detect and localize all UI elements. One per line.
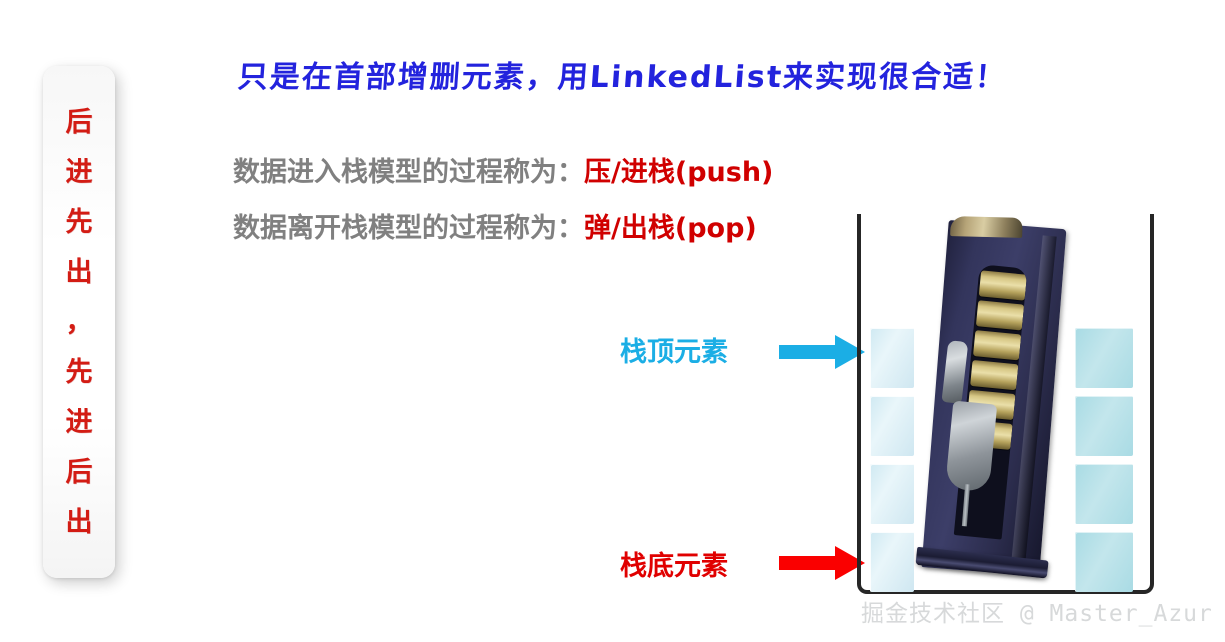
arrow-right-red-icon xyxy=(779,546,865,580)
side-banner-text: 后 进 先 出 ， 先 进 后 出 xyxy=(43,66,115,578)
stack-cells-left xyxy=(870,328,914,592)
cartridge xyxy=(979,270,1027,300)
arrow-right-cyan-icon xyxy=(779,335,865,369)
stack-diagram-inner xyxy=(861,214,1150,590)
stack-cell xyxy=(1075,532,1133,592)
stack-cell xyxy=(870,396,914,456)
magazine-top-round xyxy=(950,216,1022,238)
side-banner-card: 后 进 先 出 ， 先 进 后 出 xyxy=(43,66,115,578)
annotation-stack-top-label: 栈顶元素 xyxy=(620,330,728,369)
stack-cell xyxy=(870,532,914,592)
statement-pop-highlight: 弹/出栈(pop) xyxy=(584,213,757,244)
statement-push-highlight: 压/进栈(push) xyxy=(584,157,773,188)
cartridge xyxy=(976,300,1024,330)
stack-cells-right xyxy=(1075,328,1133,592)
stack-cell xyxy=(870,464,914,524)
statement-pop: 数据离开栈模型的过程称为：弹/出栈(pop) xyxy=(233,206,757,245)
cartridge xyxy=(973,330,1021,360)
statement-push-lead: 数据进入栈模型的过程称为： xyxy=(233,157,584,188)
stack-cell xyxy=(1075,464,1133,524)
page-headline: 只是在首部增删元素，用LinkedList来实现很合适！ xyxy=(236,52,1008,96)
watermark-text: 掘金技术社区 @ Master_Azur xyxy=(861,594,1213,628)
statement-pop-lead: 数据离开栈模型的过程称为： xyxy=(233,213,584,244)
cartridge xyxy=(970,360,1018,390)
stack-cell xyxy=(870,328,914,388)
stack-cell xyxy=(1075,328,1133,388)
stack-diagram-frame xyxy=(857,214,1154,594)
statement-push: 数据进入栈模型的过程称为：压/进栈(push) xyxy=(233,150,773,189)
slide-canvas: 后 进 先 出 ， 先 进 后 出 只是在首部增删元素，用LinkedList来… xyxy=(0,0,1225,642)
annotation-stack-bottom-label: 栈底元素 xyxy=(620,544,728,583)
magazine-photo xyxy=(913,213,1086,581)
stack-cell xyxy=(1075,396,1133,456)
